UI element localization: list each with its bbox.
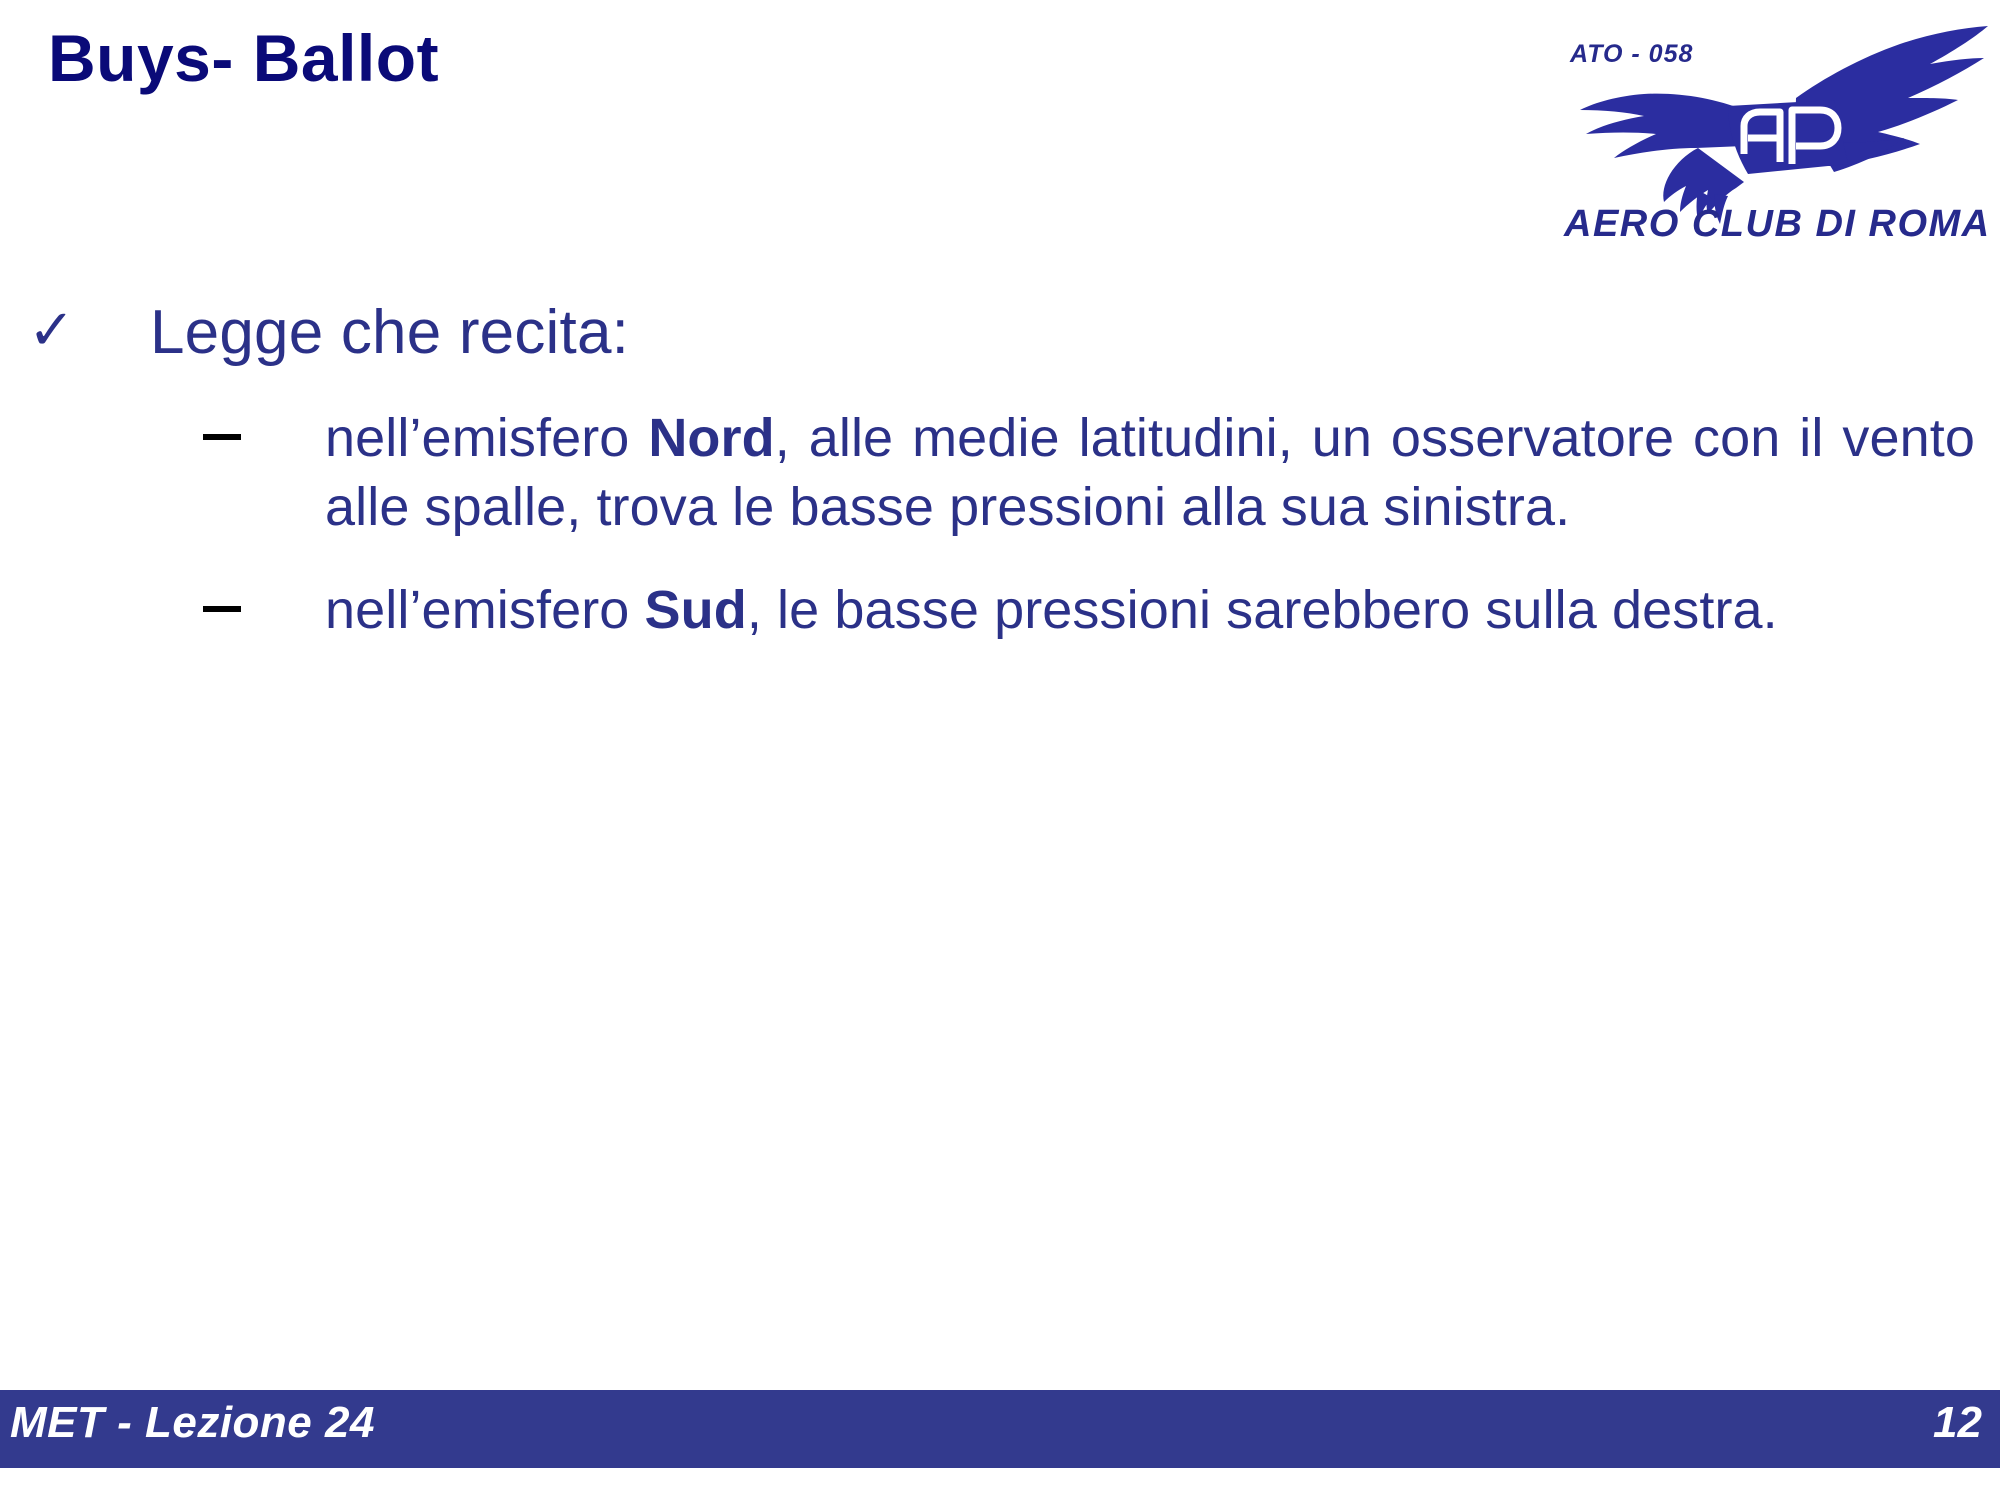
dash-bullet-icon <box>203 606 241 612</box>
bullet-level2-item: nell’emisfero Nord, alle medie latitudin… <box>0 404 2000 542</box>
page-title: Buys- Ballot <box>48 20 439 96</box>
footer-page-number: 12 <box>1933 1398 1982 1448</box>
bullet-level2-prefix: nell’emisfero <box>325 408 648 468</box>
bullet-level2-emphasis: Sud <box>645 580 747 640</box>
aero-club-di-roma-logo: ATO - 058 <box>1548 14 2000 246</box>
check-icon: ✓ <box>28 302 75 358</box>
dash-bullet-icon <box>203 434 241 440</box>
bullet-level2-paragraph: nell’emisfero Sud, le basse pressioni sa… <box>325 576 1975 645</box>
eagle-logo-icon: ATO - 058 <box>1548 14 2000 246</box>
bullet-level1-label: Legge che recita: <box>150 298 629 367</box>
footer-course-label: MET - Lezione 24 <box>10 1398 375 1448</box>
bullet-level2-suffix: , le basse pressioni sarebbero sulla des… <box>747 580 1778 640</box>
logo-ato-code-text: ATO - 058 <box>1569 40 1693 68</box>
slide-canvas: Buys- Ballot ATO - 058 <box>0 0 2000 1500</box>
bullet-level1-item: ✓ Legge che recita: <box>0 298 2000 382</box>
bullet-level2-item: nell’emisfero Sud, le basse pressioni sa… <box>0 576 2000 645</box>
logo-org-name-text: AERO CLUB DI ROMA <box>1563 203 1991 245</box>
slide-body: ✓ Legge che recita: nell’emisfero Nord, … <box>0 298 2000 679</box>
bullet-level2-prefix: nell’emisfero <box>325 580 645 640</box>
bullet-level2-paragraph: nell’emisfero Nord, alle medie latitudin… <box>325 404 1975 542</box>
bullet-level2-emphasis: Nord <box>648 408 774 468</box>
